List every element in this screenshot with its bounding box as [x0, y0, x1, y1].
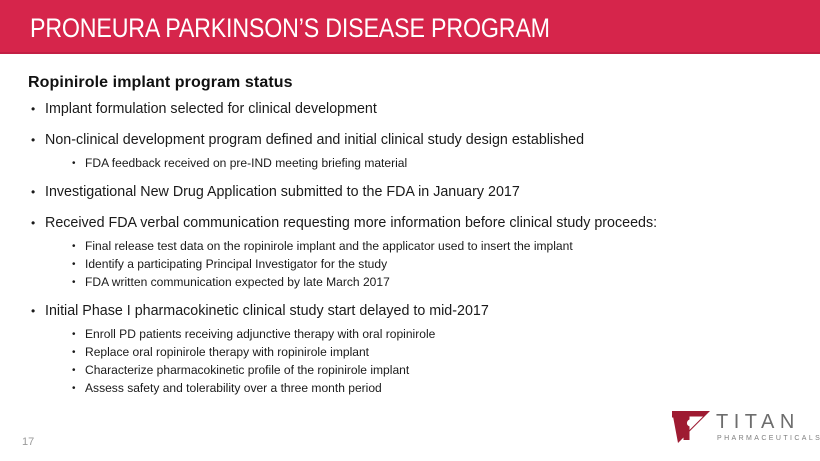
sub-list-item-label: Replace oral ropinirole therapy with rop…	[85, 345, 805, 360]
logo-company-name: TITAN	[716, 412, 820, 432]
list-item-label: Initial Phase I pharmacokinetic clinical…	[45, 303, 808, 320]
bullet-marker-icon: •	[31, 215, 45, 232]
sub-list-item: • Assess safety and tolerability over a …	[0, 381, 820, 396]
titan-triangle-mark-icon	[670, 409, 712, 445]
bullet-marker-icon: •	[31, 303, 45, 320]
bullet-marker-icon: •	[72, 381, 85, 396]
sub-list-item: • FDA feedback received on pre-IND meeti…	[0, 156, 820, 171]
sub-list-item-label: Final release test data on the ropinirol…	[85, 239, 805, 254]
slide-title-banner: PRONEURA PARKINSON’S DISEASE PROGRAM	[0, 0, 820, 54]
list-item: • Initial Phase I pharmacokinetic clinic…	[0, 303, 820, 320]
bullet-marker-icon: •	[31, 101, 45, 118]
sub-list-item-label: Enroll PD patients receiving adjunctive …	[85, 327, 805, 342]
sub-list-item-label: FDA feedback received on pre-IND meeting…	[85, 156, 805, 171]
sub-list-item: • FDA written communication expected by …	[0, 275, 820, 290]
company-logo: TITAN PHARMACEUTICALS	[670, 407, 802, 451]
sub-list-item-label: Assess safety and tolerability over a th…	[85, 381, 805, 396]
list-item: • Investigational New Drug Application s…	[0, 184, 820, 201]
bullet-marker-icon: •	[72, 239, 85, 254]
list-item-label: Non-clinical development program defined…	[45, 132, 808, 149]
list-item-label: Received FDA verbal communication reques…	[45, 215, 808, 232]
sub-list-item: • Enroll PD patients receiving adjunctiv…	[0, 327, 820, 342]
bullet-marker-icon: •	[72, 345, 85, 360]
sub-list-item: • Characterize pharmacokinetic profile o…	[0, 363, 820, 378]
bullet-marker-icon: •	[72, 275, 85, 290]
logo-tagline: PHARMACEUTICALS	[717, 434, 820, 444]
sub-list-item: • Final release test data on the ropinir…	[0, 239, 820, 254]
page-number: 17	[22, 436, 34, 448]
list-item: • Non-clinical development program defin…	[0, 132, 820, 149]
sub-list-item-label: Characterize pharmacokinetic profile of …	[85, 363, 805, 378]
page-title: PRONEURA PARKINSON’S DISEASE PROGRAM	[30, 13, 550, 43]
bullet-list: • Implant formulation selected for clini…	[0, 101, 820, 396]
list-item-label: Investigational New Drug Application sub…	[45, 184, 808, 201]
slide-subtitle: Ropinirole implant program status	[28, 74, 293, 92]
logo-wordmark: TITAN PHARMACEUTICALS	[716, 412, 820, 444]
list-item: • Implant formulation selected for clini…	[0, 101, 820, 118]
bullet-marker-icon: •	[72, 156, 85, 171]
sub-list-item: • Identify a participating Principal Inv…	[0, 257, 820, 272]
bullet-marker-icon: •	[72, 363, 85, 378]
bullet-marker-icon: •	[72, 257, 85, 272]
sub-list-item: • Replace oral ropinirole therapy with r…	[0, 345, 820, 360]
bullet-marker-icon: •	[31, 132, 45, 149]
list-item: • Received FDA verbal communication requ…	[0, 215, 820, 232]
sub-list-item-label: Identify a participating Principal Inves…	[85, 257, 805, 272]
slide-content-area: Ropinirole implant program status • Impl…	[0, 54, 820, 461]
list-item-label: Implant formulation selected for clinica…	[45, 101, 808, 118]
bullet-marker-icon: •	[31, 184, 45, 201]
sub-list-item-label: FDA written communication expected by la…	[85, 275, 805, 290]
bullet-marker-icon: •	[72, 327, 85, 342]
